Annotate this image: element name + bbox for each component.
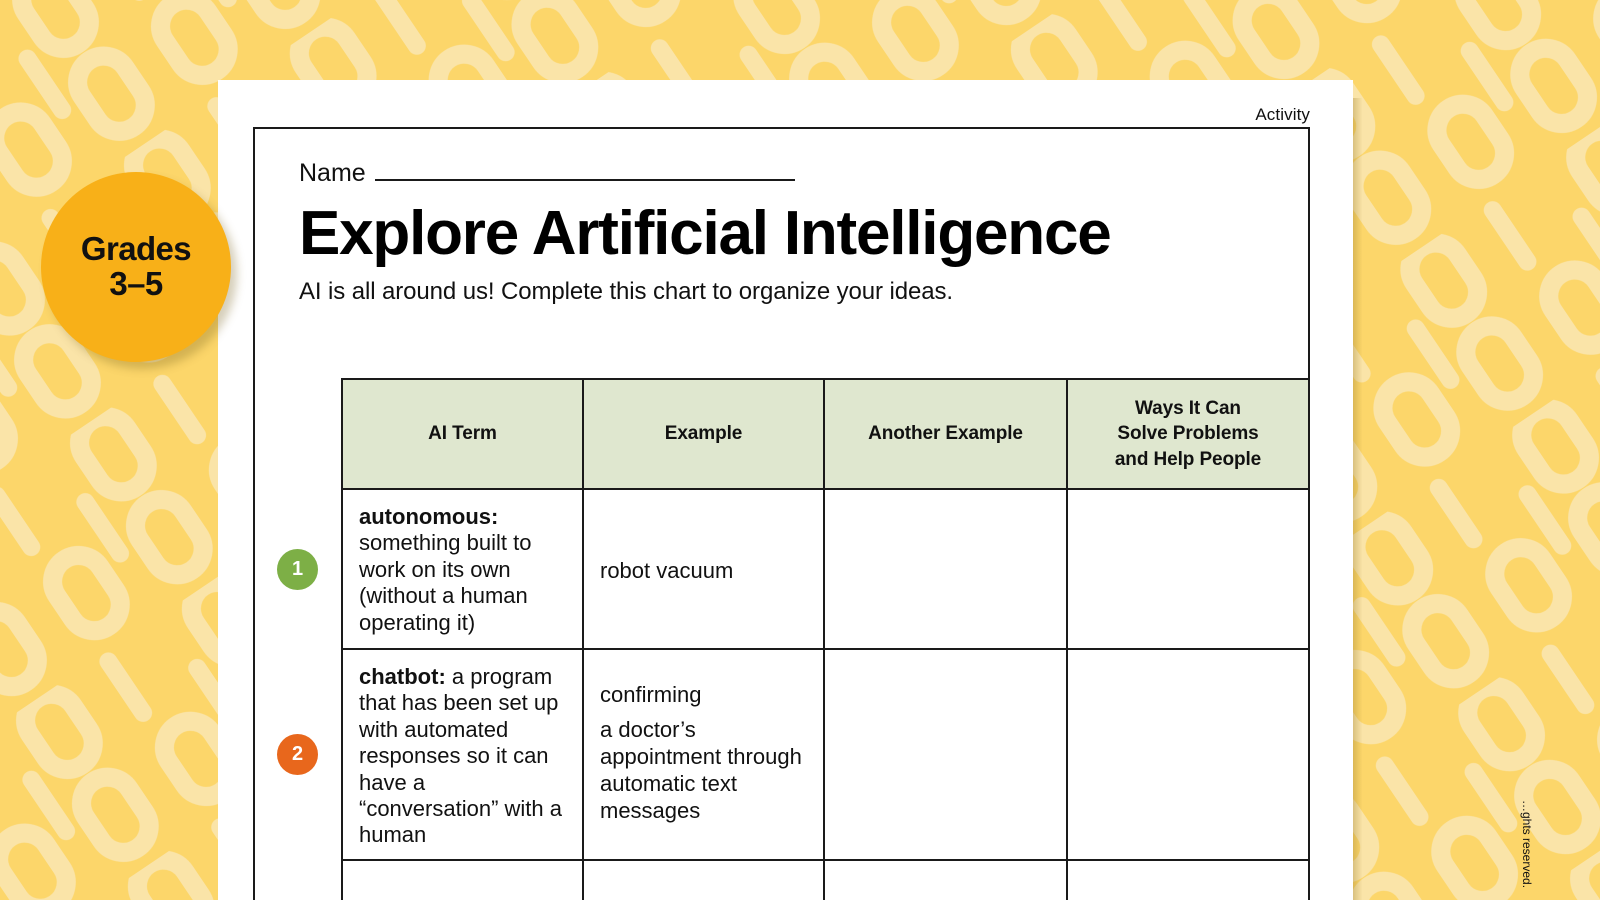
page-subtitle: AI is all around us! Complete this chart… [299,278,1308,306]
another-example-cell[interactable] [824,489,1067,649]
another-example-cell[interactable] [824,649,1067,860]
ai-term-definition: something built to work on its own (with… [359,530,531,634]
table-header-row: AI Term Example Another Example Ways It … [254,379,1309,489]
example-line-1: confirming [600,682,807,709]
grade-badge-line-1: Grades [81,232,191,267]
ai-term-cell: chatbot: a program that has been set up … [342,649,583,860]
name-field-row: Name [299,159,1308,188]
ways-cell[interactable] [1067,489,1309,649]
activity-label: Activity [1255,105,1310,125]
row-number-cell: 2 [254,649,342,860]
ways-header-line-2: Solve Problems [1117,423,1258,444]
copyright-notice: …ghts reserved. [1520,800,1534,900]
column-header-number [254,379,342,489]
table-row: 2 chatbot: a program that has been set u… [254,649,1309,860]
worksheet-frame: Name Explore Artificial Intelligence AI … [253,127,1310,900]
name-input-line[interactable] [375,161,795,181]
ways-header-line-3: and Help People [1115,449,1261,470]
column-header-example: Example [583,379,824,489]
ways-header-line-1: Ways It Can [1135,398,1241,419]
example-line-2: a doctor’s appointment through automatic… [600,717,802,822]
worksheet-page: Activity Name Explore Artificial Intelli… [218,80,1353,900]
row-number-badge: 1 [277,549,318,590]
example-cell[interactable] [583,860,824,900]
page-drop-shadow [1353,98,1362,900]
ai-terms-table: AI Term Example Another Example Ways It … [254,378,1310,900]
name-label: Name [299,159,366,188]
example-cell[interactable]: robot vacuum [583,489,824,649]
column-header-ai-term: AI Term [342,379,583,489]
ai-term-word: autonomous: [359,504,498,529]
row-number-cell: 1 [254,489,342,649]
ai-term-word: chatbot: [359,664,446,689]
another-example-cell[interactable] [824,860,1067,900]
table-row [254,860,1309,900]
column-header-another-example: Another Example [824,379,1067,489]
row-number-badge: 2 [277,734,318,775]
example-cell[interactable]: confirming a doctor’s appointment throug… [583,649,824,860]
page-title: Explore Artificial Intelligence [299,202,1308,266]
ai-term-cell: autonomous: something built to work on i… [342,489,583,649]
grade-level-badge: Grades 3–5 [41,172,231,362]
ways-cell[interactable] [1067,649,1309,860]
ai-term-cell[interactable] [342,860,583,900]
grade-badge-line-2: 3–5 [109,267,162,302]
column-header-ways-to-help: Ways It Can Solve Problems and Help Peop… [1067,379,1309,489]
table-row: 1 autonomous: something built to work on… [254,489,1309,649]
ways-cell[interactable] [1067,860,1309,900]
row-number-cell [254,860,342,900]
worksheet-header: Name Explore Artificial Intelligence AI … [255,129,1308,378]
ai-term-definition: a program that has been set up with auto… [359,664,562,847]
